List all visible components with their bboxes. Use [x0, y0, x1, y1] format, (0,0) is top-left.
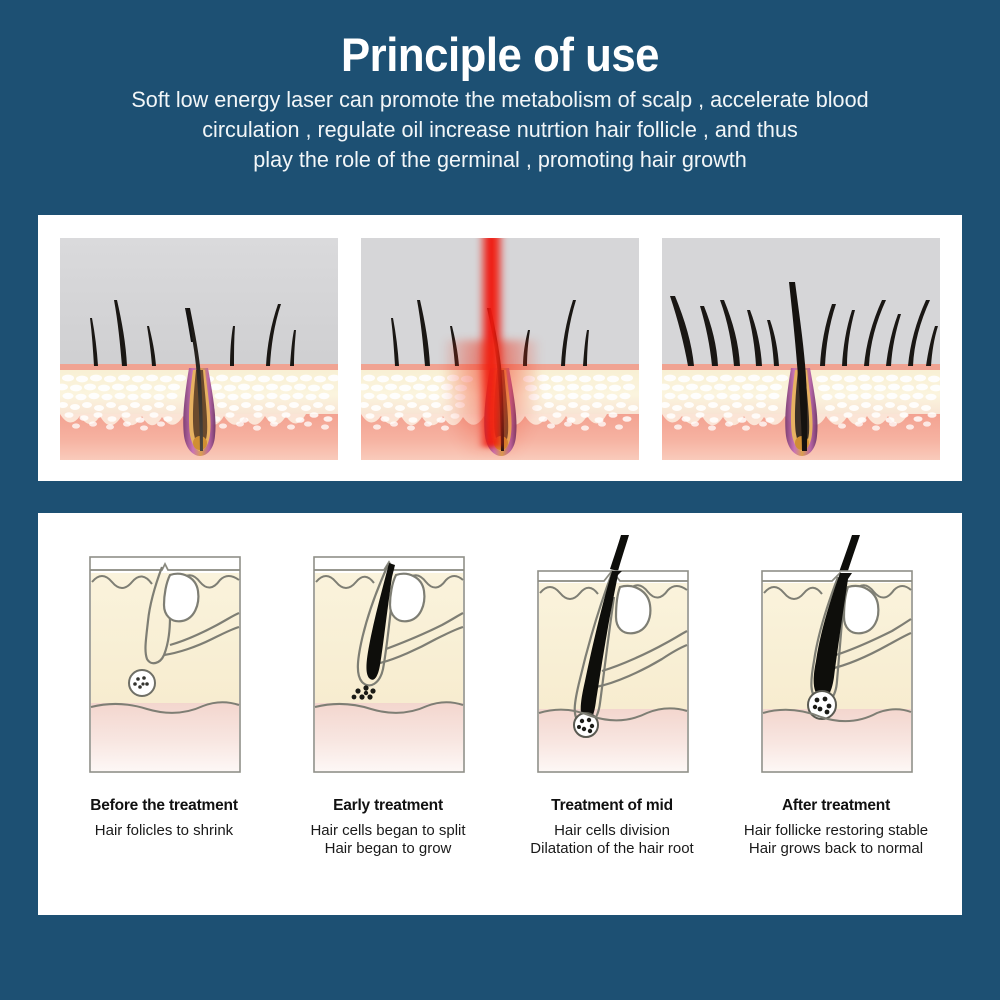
figure-follicle-restored — [724, 535, 948, 797]
stage-description: Hair cells division Dilatation of the ha… — [500, 822, 724, 860]
stage-desc-line-2: Hair began to grow — [276, 840, 500, 859]
skin-panel-laser — [361, 238, 639, 460]
stage-description: Hair follicke restoring stable Hair grow… — [724, 822, 948, 860]
follicle-shrunk-icon — [52, 535, 276, 797]
skin-panel-after — [662, 238, 940, 460]
skin-illustration-before — [60, 238, 338, 460]
subtitle: Soft low energy laser can promote the me… — [20, 85, 980, 175]
stage-early-treatment: Early treatment Hair cells began to spli… — [276, 535, 500, 895]
follicle-restored-icon — [724, 535, 948, 797]
skin-panel-group — [60, 238, 940, 460]
stage-after-treatment: After treatment Hair follicke restoring … — [724, 535, 948, 895]
figure-follicle-early-growth — [276, 535, 500, 797]
stage-desc-line-1: Hair follicke restoring stable — [724, 822, 948, 841]
stage-desc-line-1: Hair folicles to shrink — [52, 822, 276, 841]
stage-title: Before the treatment — [52, 797, 276, 816]
follicle-early-growth-icon — [276, 535, 500, 797]
laser-glow — [444, 340, 539, 455]
subtitle-line-1: Soft low energy laser can promote the me… — [58, 85, 941, 115]
stage-before-the-treatment: Before the treatment Hair folicles to sh… — [52, 535, 276, 895]
subtitle-line-3: play the role of the germinal , promotin… — [58, 145, 941, 175]
skin-cross-section-card — [38, 215, 962, 481]
page-title: Principle of use — [35, 30, 965, 79]
header: Principle of use Soft low energy laser c… — [0, 0, 1000, 175]
subtitle-line-2: circulation , regulate oil increase nutr… — [58, 115, 941, 145]
stage-desc-line-2: Dilatation of the hair root — [500, 840, 724, 859]
skin-illustration-after — [662, 238, 940, 460]
stage-desc-line-2: Hair grows back to normal — [724, 840, 948, 859]
stage-title: Treatment of mid — [500, 797, 724, 816]
skin-panel-before — [60, 238, 338, 460]
stage-group: Before the treatment Hair folicles to sh… — [52, 535, 948, 895]
stage-desc-line-1: Hair cells division — [500, 822, 724, 841]
stage-title: After treatment — [724, 797, 948, 816]
stage-desc-line-1: Hair cells began to split — [276, 822, 500, 841]
figure-follicle-mid-growth — [500, 535, 724, 797]
treatment-stages-card: Before the treatment Hair folicles to sh… — [38, 513, 962, 915]
follicle-mid-growth-icon — [500, 535, 724, 797]
stage-description: Hair cells began to split Hair began to … — [276, 822, 500, 860]
figure-follicle-shrunk — [52, 535, 276, 797]
stage-description: Hair folicles to shrink — [52, 822, 276, 841]
stage-treatment-of-mid: Treatment of mid Hair cells division Dil… — [500, 535, 724, 895]
stage-title: Early treatment — [276, 797, 500, 816]
